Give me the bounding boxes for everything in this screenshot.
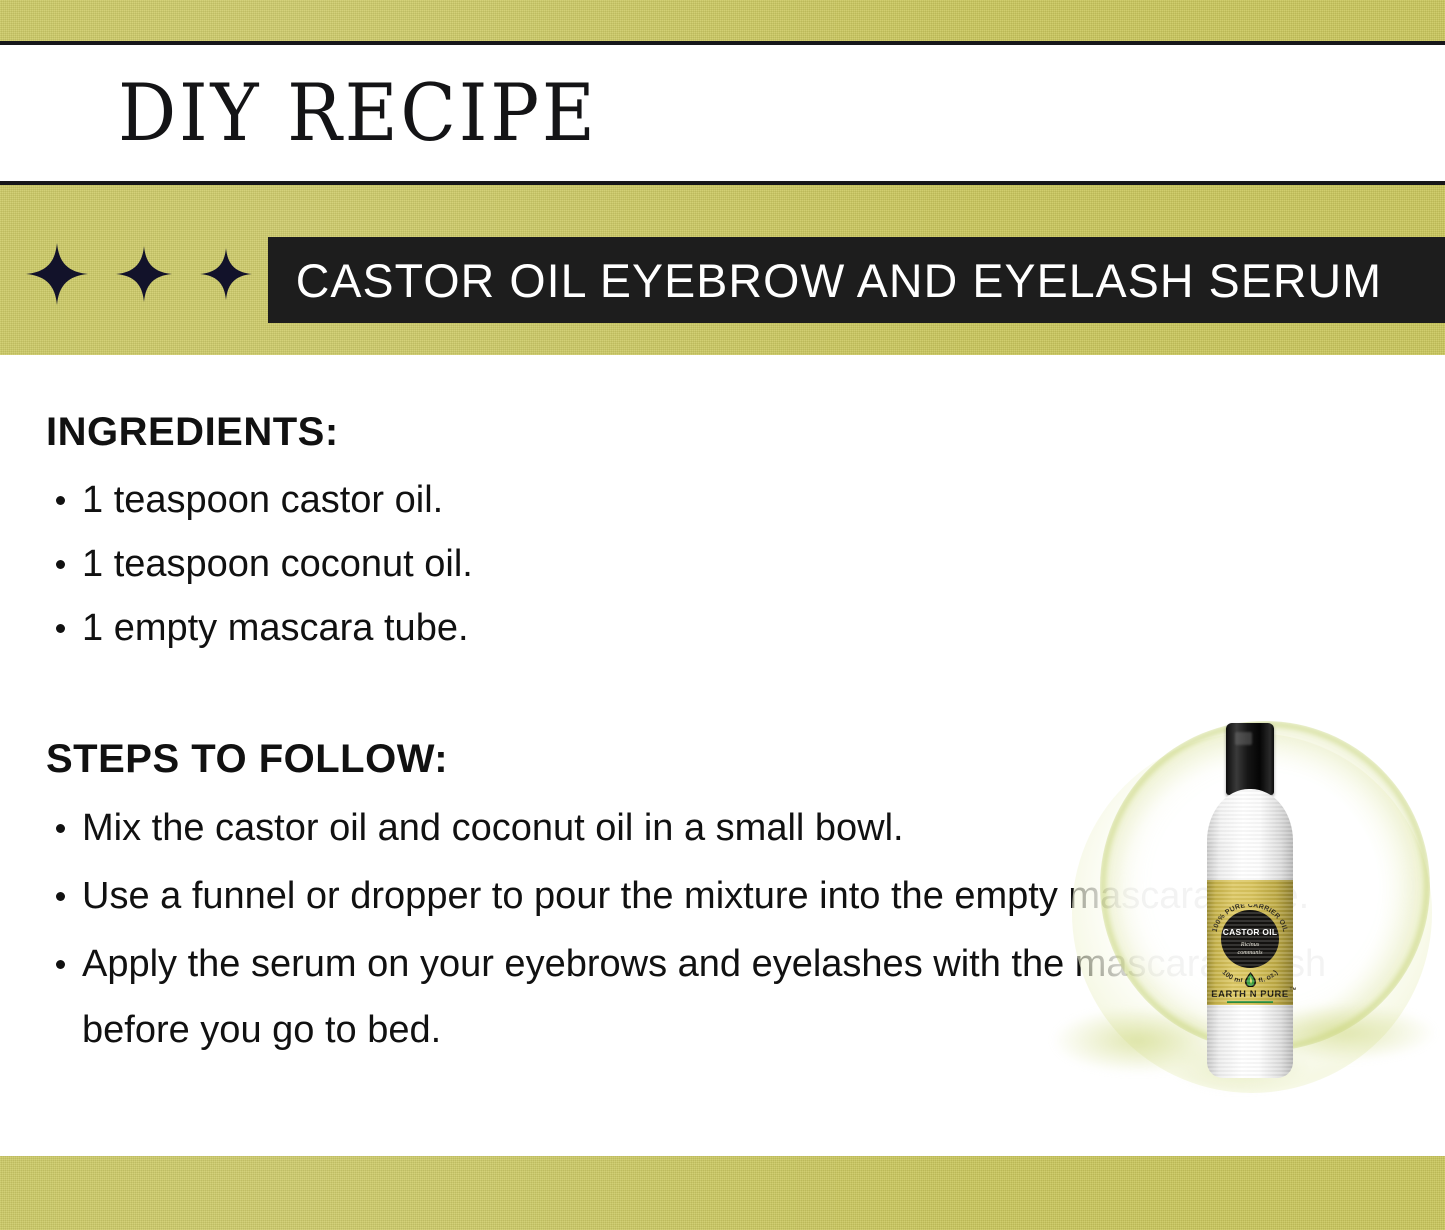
label-title: CASTOR OIL xyxy=(1221,927,1279,937)
bottle-shoulder xyxy=(1207,789,1293,849)
bottom-olive-band xyxy=(0,1156,1445,1230)
leaf-drop-icon xyxy=(1244,972,1257,987)
top-olive-band xyxy=(0,0,1445,41)
brand-name: EARTH N PURETM xyxy=(1207,988,1293,999)
castor-oil-bottle: 100% PURE CARRIER OIL CASTOR OIL Ricinus… xyxy=(1204,723,1296,1078)
page-title: DIY RECIPE xyxy=(118,74,598,153)
label-botanical-line1: Ricinus xyxy=(1241,941,1260,948)
product-image: 100% PURE CARRIER OIL CASTOR OIL Ricinus… xyxy=(1052,713,1445,1113)
list-item: 1 teaspoon coconut oil. xyxy=(46,532,686,596)
ingredients-list: 1 teaspoon castor oil. 1 teaspoon coconu… xyxy=(46,468,686,660)
four-point-star-icon xyxy=(200,248,252,300)
four-point-star-icon xyxy=(116,246,172,302)
recipe-body: INGREDIENTS: 1 teaspoon castor oil. 1 te… xyxy=(0,355,1445,1156)
bottle-cap xyxy=(1226,723,1274,795)
four-point-star-icon xyxy=(26,243,88,305)
steps-heading: STEPS TO FOLLOW: xyxy=(46,737,448,782)
sparkle-group xyxy=(26,236,252,312)
brand-underline xyxy=(1227,1001,1273,1003)
label-botanical: Ricinus communis xyxy=(1221,941,1279,956)
title-band: DIY RECIPE xyxy=(0,45,1445,181)
subtitle-text: CASTOR OIL EYEBROW AND EYELASH SERUM xyxy=(268,253,1382,308)
brand-lockup: EARTH N PURETM xyxy=(1207,972,1293,1003)
label-botanical-line2: communis xyxy=(1237,949,1262,956)
brand-trademark: TM xyxy=(1290,986,1297,991)
list-item: 1 empty mascara tube. xyxy=(46,596,686,660)
diy-recipe-card: DIY RECIPE CASTOR OIL EYEBROW AND EYELAS… xyxy=(0,0,1445,1230)
subtitle-banner: CASTOR OIL EYEBROW AND EYELASH SERUM xyxy=(268,237,1445,323)
bottle-label: 100% PURE CARRIER OIL CASTOR OIL Ricinus… xyxy=(1207,880,1293,1005)
ingredients-heading: INGREDIENTS: xyxy=(46,410,339,455)
list-item: 1 teaspoon castor oil. xyxy=(46,468,686,532)
